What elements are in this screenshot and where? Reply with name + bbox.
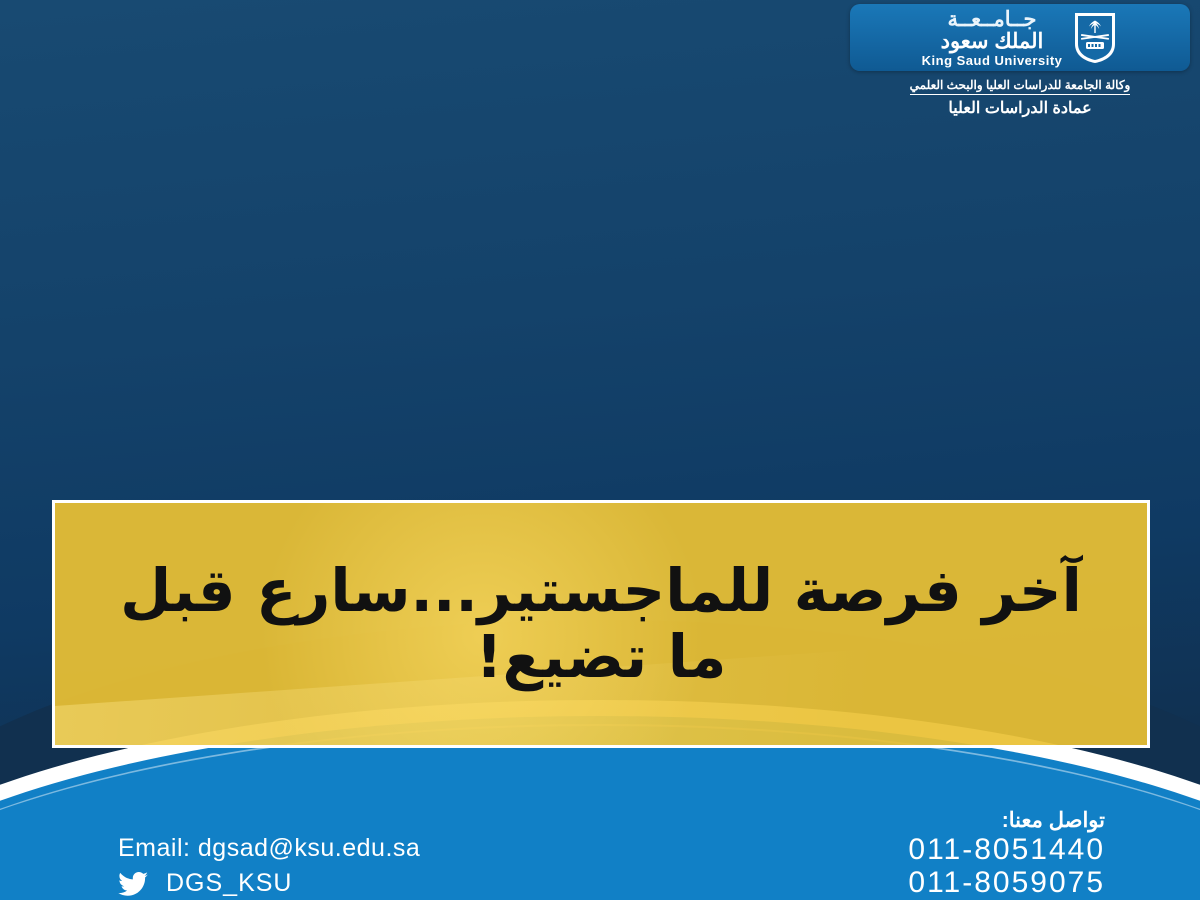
logo-english-name: King Saud University (922, 54, 1063, 67)
poster-canvas: جــامــعــة الملك سعود King Saud Univers… (0, 0, 1200, 900)
saudi-palm-swords-shield-icon (1072, 11, 1118, 65)
logo-arabic-line2: الملك سعود (922, 31, 1063, 52)
logo-subtitle: وكالة الجامعة للدراسات العليا والبحث الع… (850, 76, 1190, 118)
twitter-bird-icon (118, 872, 148, 896)
footer-contact-right: تواصل معنا: 011-8051440 011-8059075 (908, 808, 1105, 900)
headline-text: آخر فرصة للماجستير...سارع قبل ما تضيع! (55, 558, 1147, 690)
logo-box: جــامــعــة الملك سعود King Saud Univers… (850, 4, 1190, 71)
phone-number-1[interactable]: 011-8051440 (908, 833, 1105, 867)
logo-wordmark: جــامــعــة الملك سعود King Saud Univers… (922, 9, 1063, 67)
contact-title: تواصل معنا: (908, 808, 1105, 833)
twitter-row[interactable]: DGS_KSU (118, 869, 420, 898)
logo-arabic-line1: جــامــعــة (922, 9, 1063, 30)
logo-subtitle-line1: وكالة الجامعة للدراسات العليا والبحث الع… (910, 78, 1131, 95)
footer-contact-left: Email: dgsad@ksu.edu.sa DGS_KSU (118, 834, 420, 898)
headline-banner: آخر فرصة للماجستير...سارع قبل ما تضيع! (52, 500, 1150, 748)
phone-number-2[interactable]: 011-8059075 (908, 866, 1105, 900)
twitter-handle: DGS_KSU (166, 869, 292, 898)
email-text[interactable]: Email: dgsad@ksu.edu.sa (118, 834, 420, 863)
ksu-logo: جــامــعــة الملك سعود King Saud Univers… (850, 4, 1190, 118)
logo-subtitle-line2: عمادة الدراسات العليا (850, 98, 1190, 118)
